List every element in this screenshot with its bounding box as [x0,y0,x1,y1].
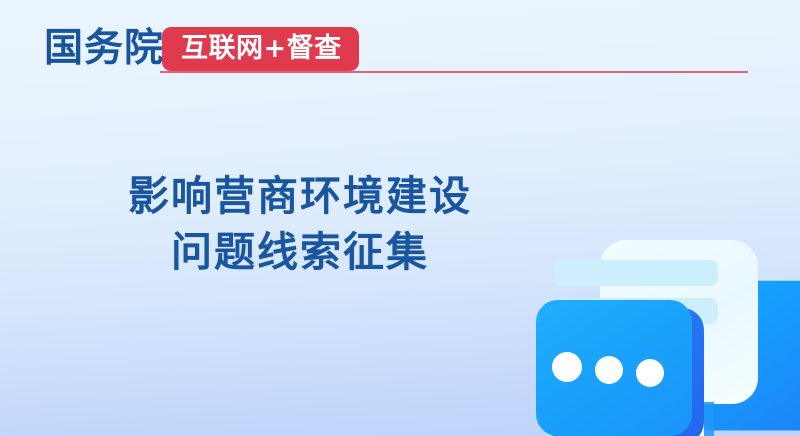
header-divider [160,71,748,73]
organization-name: 国务院 [44,27,164,71]
typing-dot-3 [636,359,664,387]
program-badge-label: 互联网+督查 [181,34,342,64]
banner-root: 国务院 互联网+督查 影响营商环境建设 问题线索征集 [0,0,800,436]
typing-dot-2 [595,356,623,384]
banner-header: 国务院 互联网+督查 [0,0,800,100]
typing-dot-1 [552,352,582,382]
program-badge: 互联网+督查 [162,27,359,71]
typing-bubble [536,300,704,436]
message-line-1 [554,260,718,286]
chat-bubbles-illustration [490,212,800,436]
